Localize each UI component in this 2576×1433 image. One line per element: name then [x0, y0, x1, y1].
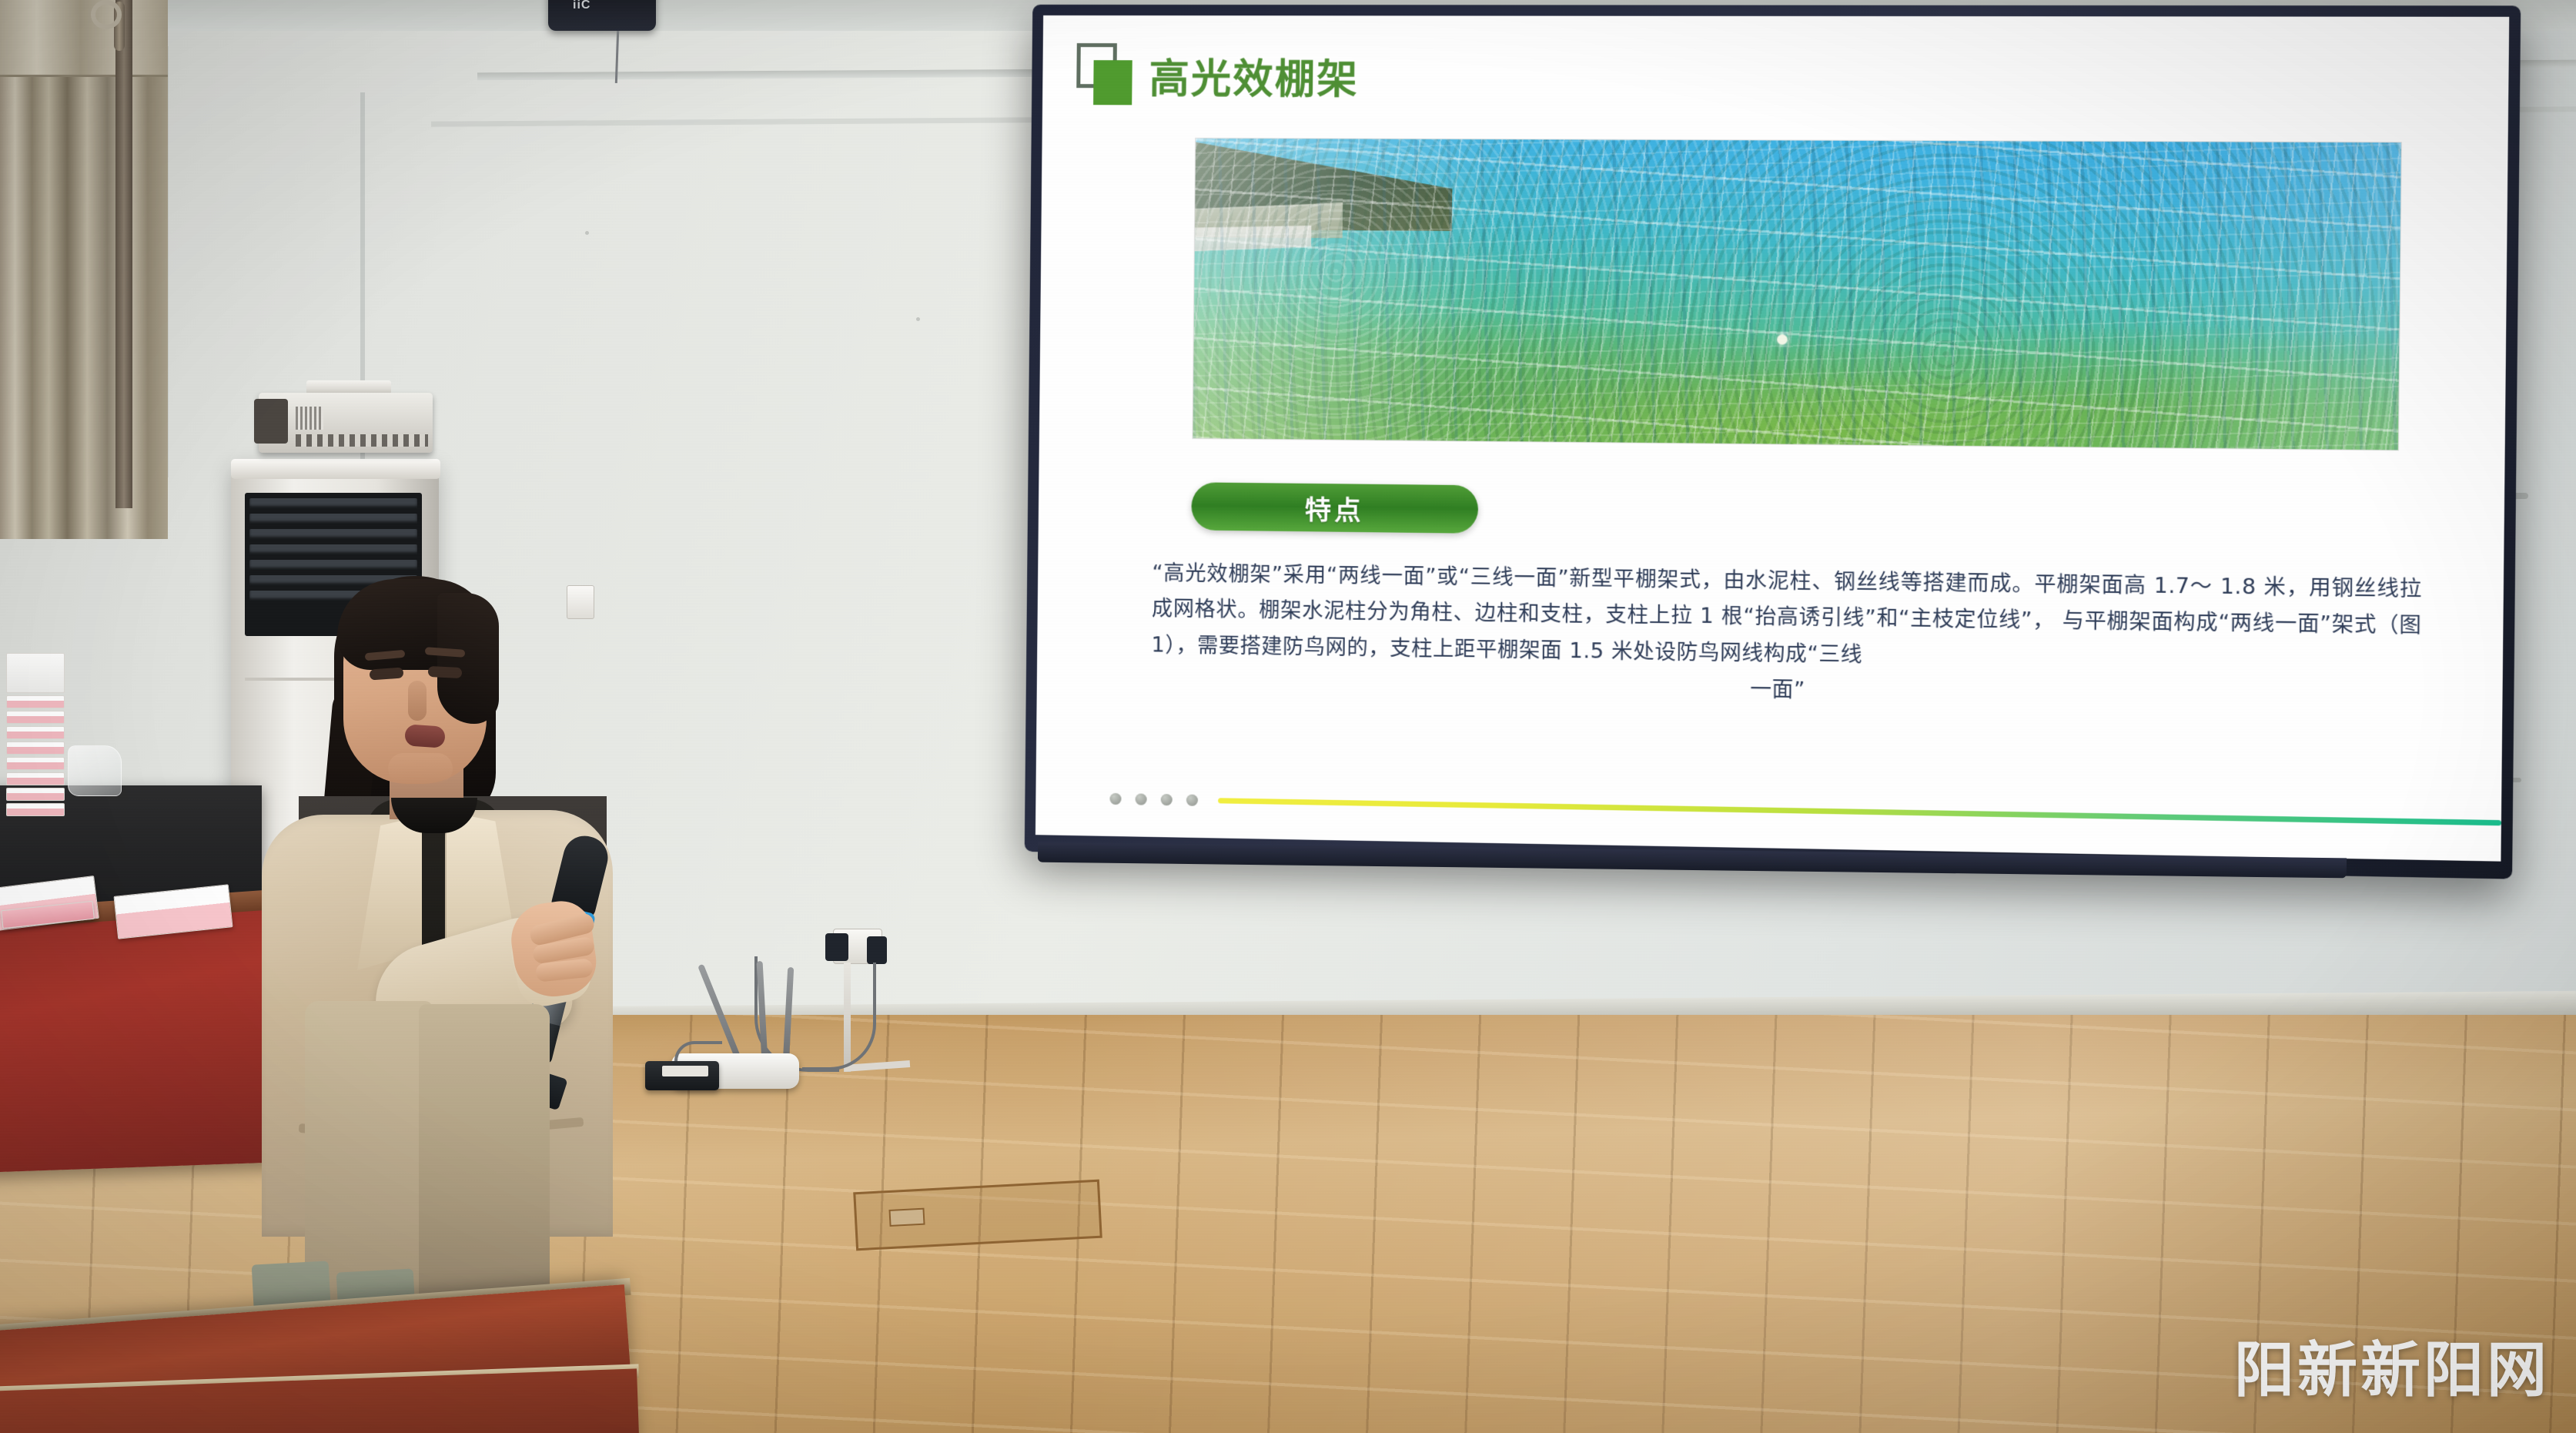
floor-hatch-latch: [888, 1208, 925, 1227]
slide-header: 高光效棚架: [1076, 43, 1359, 107]
wall-speaker: [548, 0, 656, 31]
slide-title: 高光效棚架: [1149, 46, 1359, 105]
window-curtain: [0, 0, 168, 539]
presenter-eye-right: [428, 666, 463, 678]
presenter-nose: [408, 681, 427, 721]
display-screen[interactable]: 高光效棚架 特点 “高光效棚架”采用“两线一面”: [1035, 15, 2509, 862]
footer-dots-icon: [1109, 792, 1198, 805]
presenter-hair-sweep: [437, 593, 499, 724]
wall-blemish: [916, 317, 920, 321]
projector-lens-icon: [254, 399, 288, 444]
air-conditioner-top: [231, 459, 440, 479]
projector-ports: [296, 434, 428, 447]
curtain-edge-post: [115, 0, 132, 508]
slide: 高光效棚架 特点 “高光效棚架”采用“两线一面”: [1035, 15, 2509, 862]
curtain-ring: [91, 0, 122, 29]
features-badge-label: 特点: [1305, 488, 1364, 527]
slide-body-text: “高光效棚架”采用“两线一面”或“三线一面”新型平棚架式，由水泥柱、钢丝线等搭建…: [1151, 556, 2422, 718]
wall-display[interactable]: 高光效棚架 特点 “高光效棚架”采用“两线一面”: [1025, 5, 2521, 879]
features-badge: 特点: [1191, 482, 1478, 534]
logo-filled-square-icon: [1093, 60, 1132, 105]
presenter-leg-right: [419, 1004, 550, 1328]
slide-photo: [1192, 138, 2401, 451]
speaker-brand-label: iiC: [573, 0, 590, 12]
modem-label-strip: [662, 1066, 708, 1076]
power-cable-right: [802, 963, 876, 1070]
body-line-4: 一面”: [1151, 664, 2421, 719]
watermark: 阳新新阳网: [2234, 1322, 2550, 1408]
presenter-mouth: [404, 724, 446, 748]
power-adapter-right: [867, 936, 887, 964]
curtain-valance: [0, 0, 168, 77]
presentation-room-photo: iiC 高光效棚架: [0, 0, 2576, 1433]
slide-footer: [1109, 787, 2501, 835]
wall-blemish: [585, 231, 589, 235]
footer-gradient-rule: [1218, 798, 2501, 825]
projector-vent: [296, 407, 323, 430]
squares-logo-icon: [1076, 43, 1132, 106]
plastic-bag: [68, 745, 122, 796]
body-line-1: “高光效棚架”采用“两线一面”或“三线一面”新型平棚架式，由水泥柱、钢丝线等搭建…: [1152, 561, 2213, 599]
photo-screen-glare: [1193, 139, 2400, 450]
namecard-holder-stack: [6, 653, 65, 796]
presenter-chin: [388, 753, 453, 784]
modem: [645, 1061, 719, 1090]
